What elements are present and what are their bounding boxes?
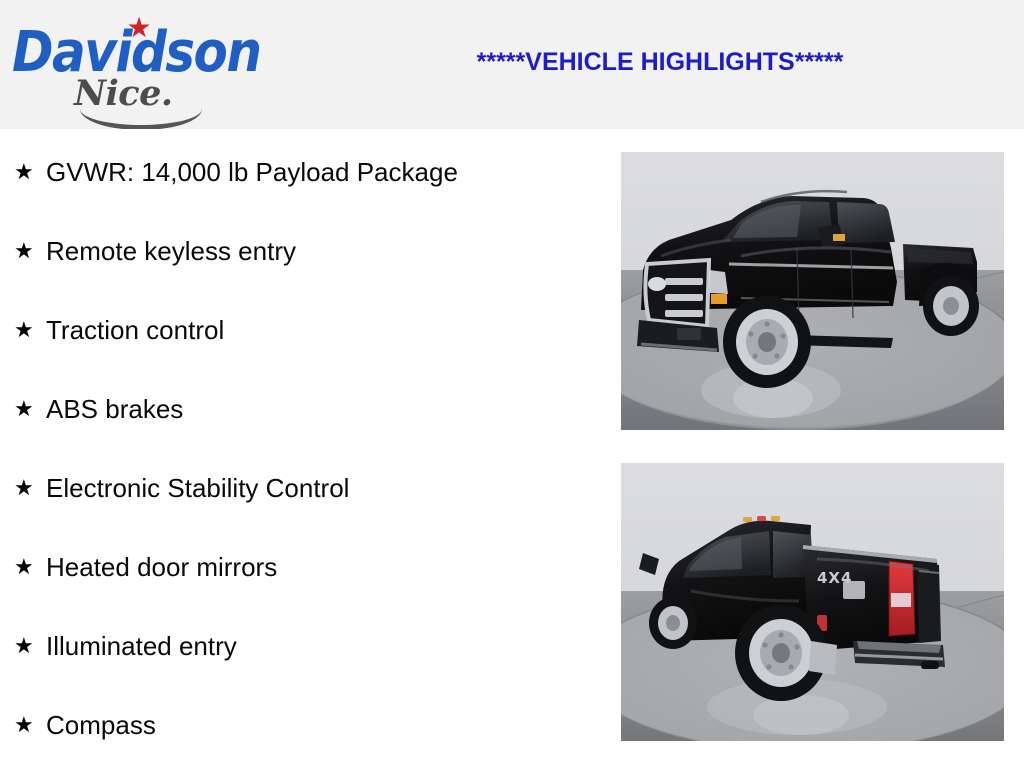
- logo-script-mark: Nice.: [74, 76, 173, 111]
- star-bullet-icon: ★: [14, 398, 46, 420]
- logo-swoosh-underline: [80, 109, 202, 130]
- star-bullet-icon: ★: [14, 556, 46, 578]
- list-item-label: GVWR: 14,000 lb Payload Package: [46, 157, 458, 187]
- list-item-label: Remote keyless entry: [46, 236, 296, 266]
- list-item-label: Compass: [46, 710, 156, 740]
- list-item-label: Electronic Stability Control: [46, 473, 349, 503]
- page-header: Davidson ★ Nice. *****VEHICLE HIGHLIGHTS…: [0, 0, 1024, 129]
- logo-star-icon: ★: [124, 14, 154, 44]
- list-item-label: Traction control: [46, 315, 224, 345]
- truck-front-illustration: [621, 152, 1004, 430]
- list-item-label: ABS brakes: [46, 394, 183, 424]
- star-bullet-icon: ★: [14, 714, 46, 736]
- truck-rear-illustration: 4X4: [621, 463, 1004, 741]
- star-bullet-icon: ★: [14, 319, 46, 341]
- star-bullet-icon: ★: [14, 240, 46, 262]
- star-bullet-icon: ★: [14, 477, 46, 499]
- list-item: ★ Remote keyless entry: [14, 236, 296, 266]
- page-title: *****VEHICLE HIGHLIGHTS*****: [310, 48, 1010, 77]
- list-item: ★ Compass: [14, 710, 156, 740]
- dealer-logo[interactable]: Davidson ★ Nice.: [12, 8, 272, 123]
- list-item: ★ GVWR: 14,000 lb Payload Package: [14, 157, 458, 187]
- list-item-label: Illuminated entry: [46, 631, 237, 661]
- vehicle-photo-rear-three-quarter[interactable]: 4X4: [621, 463, 1004, 741]
- vehicle-photo-front-three-quarter[interactable]: [621, 152, 1004, 430]
- list-item: ★ ABS brakes: [14, 394, 183, 424]
- list-item-label: Heated door mirrors: [46, 552, 277, 582]
- list-item: ★ Traction control: [14, 315, 224, 345]
- list-item: ★ Electronic Stability Control: [14, 473, 349, 503]
- list-item: ★ Heated door mirrors: [14, 552, 277, 582]
- star-bullet-icon: ★: [14, 161, 46, 183]
- list-item: ★ Illuminated entry: [14, 631, 237, 661]
- star-bullet-icon: ★: [14, 635, 46, 657]
- badge-4x4-text: 4X4: [817, 569, 852, 587]
